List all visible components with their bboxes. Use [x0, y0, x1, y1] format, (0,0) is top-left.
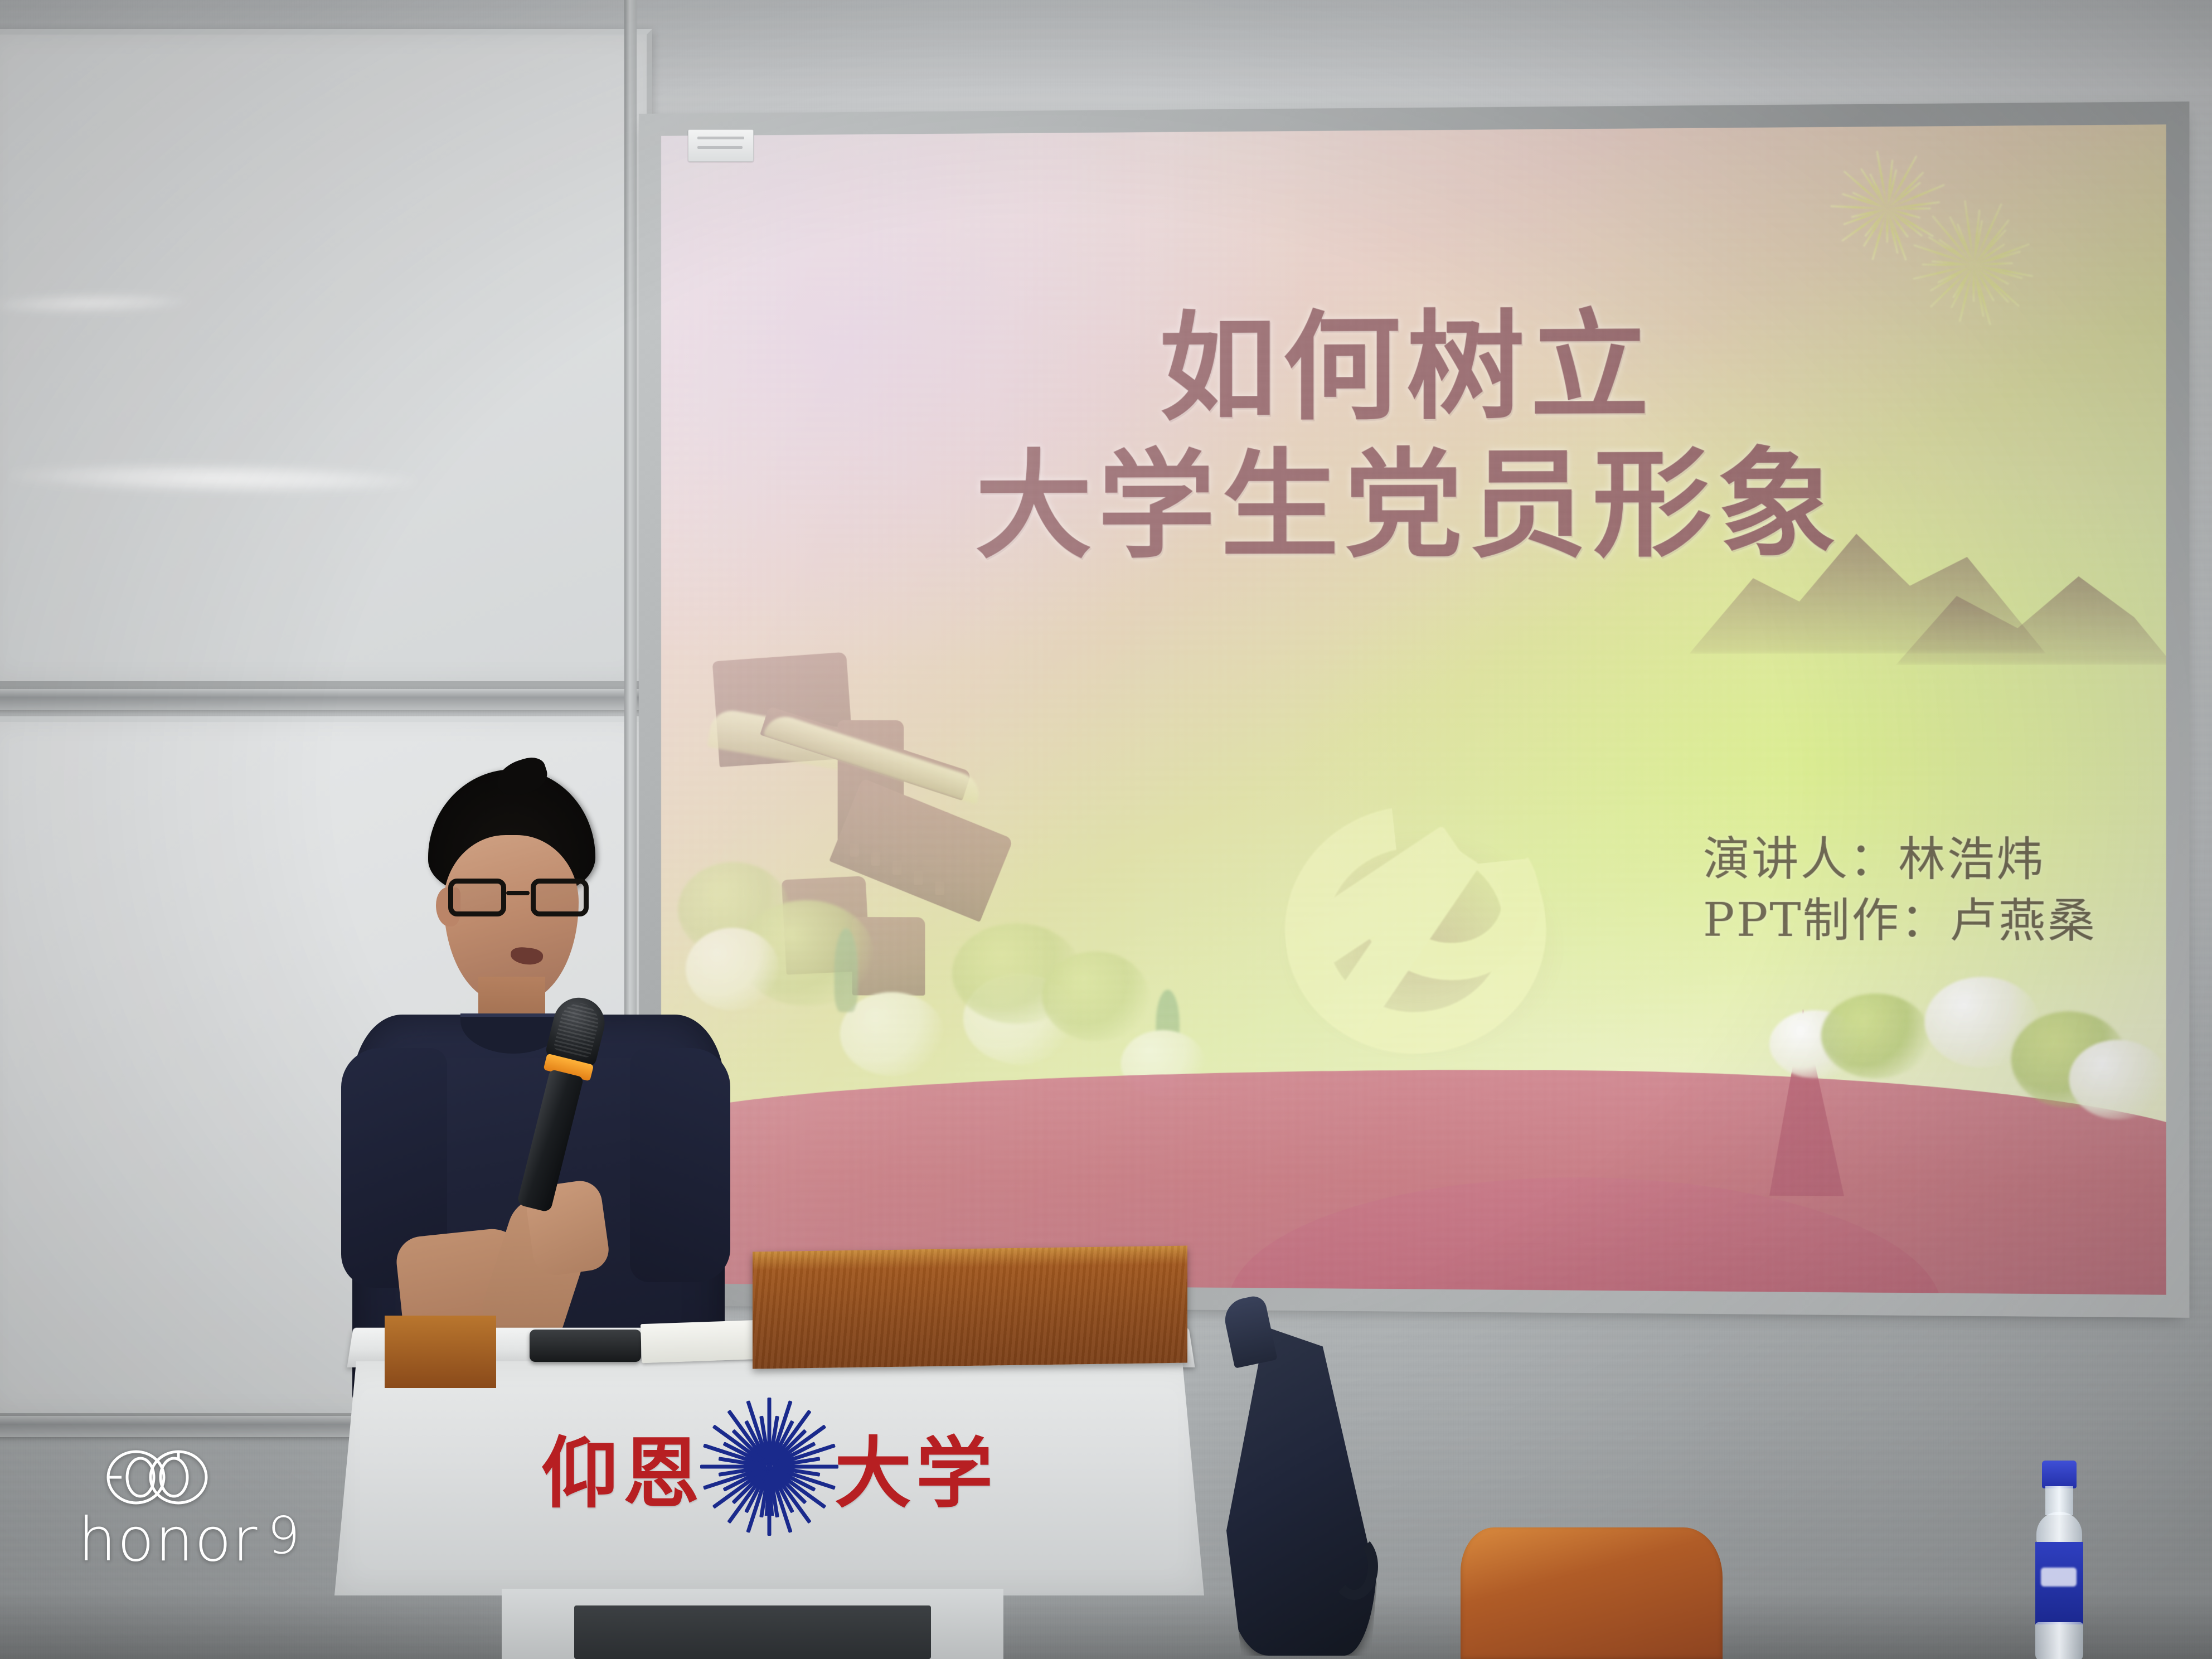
- sleeve-right: [630, 1048, 730, 1282]
- credit-speaker: 演讲人：林浩炜: [1703, 829, 2097, 891]
- great-wall-illustration: [672, 637, 1279, 1098]
- watermark-model: 9: [267, 1510, 301, 1561]
- slide-title-line-2: 大学生党员形象: [661, 435, 2166, 577]
- projected-slide: 如何树立 大学生党员形象 演讲人：林浩炜 PPT制作：卢燕桑: [661, 124, 2166, 1294]
- university-name-right: 大学: [835, 1411, 997, 1522]
- photo-scene: 如何树立 大学生党员形象 演讲人：林浩炜 PPT制作：卢燕桑: [0, 0, 2212, 1659]
- whiteboard-upper-panel: [0, 29, 652, 687]
- bottle-label: [2035, 1542, 2083, 1624]
- university-radial-emblem-icon: [719, 1399, 820, 1534]
- university-branding: 仰恩 大学: [334, 1399, 1204, 1534]
- whiteboard-rail: [0, 689, 652, 710]
- classroom-chair: [1461, 1527, 1723, 1659]
- credit-ppt-author: PPT制作：卢燕桑: [1703, 890, 2097, 953]
- microphone-receiver-base: [530, 1330, 641, 1362]
- wooden-board-on-lectern: [753, 1246, 1187, 1369]
- presenter: [329, 769, 741, 1394]
- watermark-brand: honor: [78, 1510, 258, 1570]
- honor-infinity-logo-icon: [101, 1447, 213, 1508]
- hammer-and-sickle-emblem: [1268, 800, 1586, 1066]
- slide-title-line-1: 如何树立: [1160, 298, 1655, 436]
- bottle-cap: [2042, 1461, 2077, 1488]
- eyeglasses: [448, 879, 585, 921]
- slide-credits: 演讲人：林浩炜 PPT制作：卢燕桑: [1703, 829, 2097, 953]
- screen-frame-sticker: [688, 129, 754, 162]
- whiteboard-smudge: [0, 292, 190, 315]
- projection-screen: 如何树立 大学生党员形象 演讲人：林浩炜 PPT制作：卢燕桑: [647, 110, 2181, 1310]
- lectern-equipment-bay: [574, 1605, 931, 1659]
- wooden-board-left: [385, 1316, 496, 1388]
- water-bottle: [2026, 1461, 2093, 1659]
- university-name-left: 仰恩: [541, 1411, 704, 1522]
- backpack: [1221, 1293, 1388, 1656]
- slide-title: 如何树立 大学生党员形象: [661, 295, 2166, 577]
- whiteboard-smudge: [8, 461, 416, 496]
- camera-watermark: honor 9: [78, 1447, 301, 1570]
